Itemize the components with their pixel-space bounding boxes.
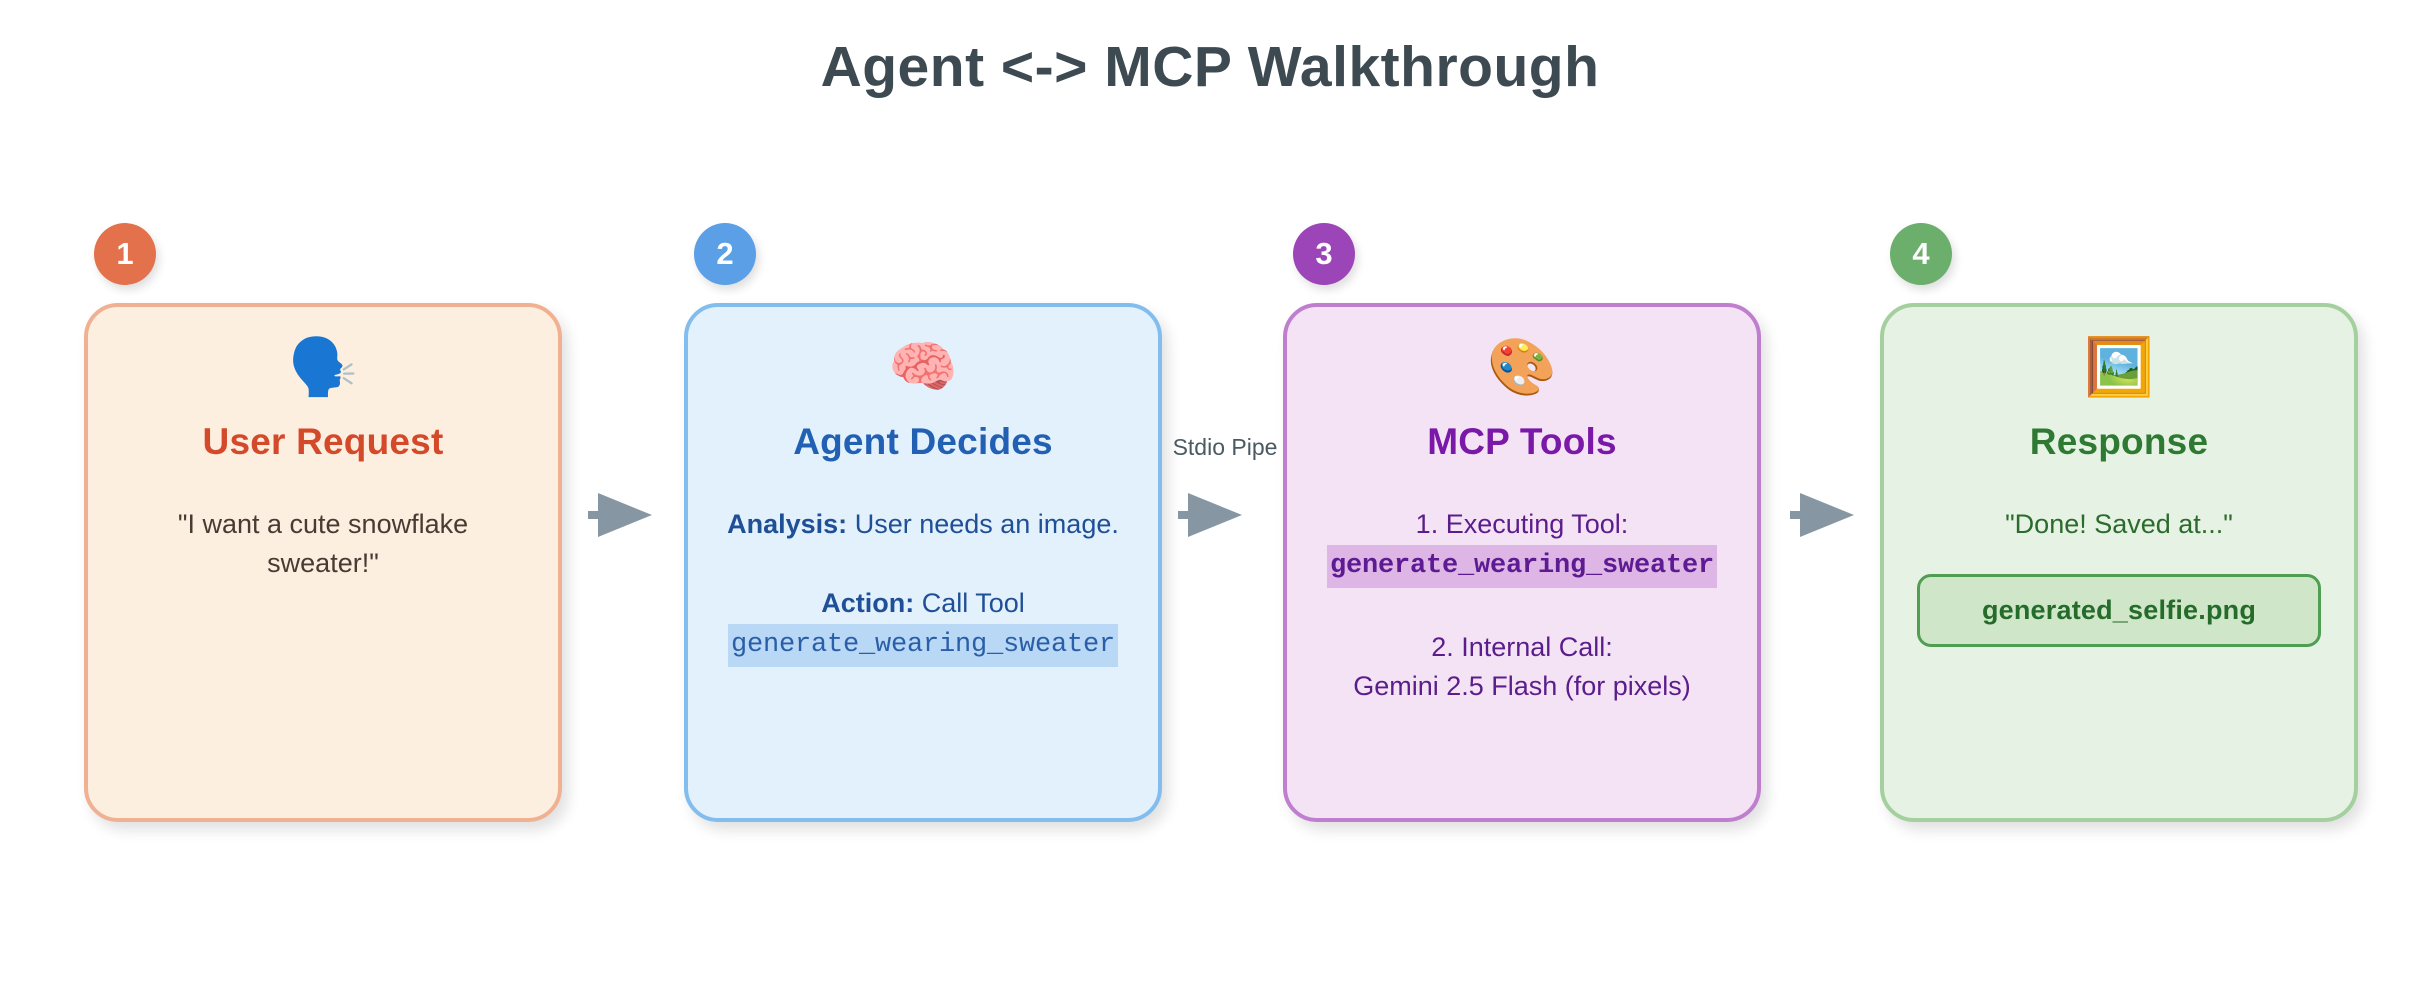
response-message: "Done! Saved at..." [1906, 505, 2332, 544]
flow-arrow-1-icon [588, 489, 652, 541]
mcp-step-1-label: 1. Executing Tool: [1309, 505, 1735, 544]
user-request-line-2: sweater!" [110, 544, 536, 583]
card-title-user-request: User Request [110, 421, 536, 463]
action-line: Action: Call Tool [710, 584, 1136, 623]
flow-arrow-2-icon [1178, 489, 1242, 541]
step-card-response: 🖼️ Response "Done! Saved at..." generate… [1880, 303, 2358, 822]
mcp-step-2-detail: Gemini 2.5 Flash (for pixels) [1309, 667, 1735, 706]
analysis-label: Analysis: [727, 509, 847, 539]
mcp-step-2-label: 2. Internal Call: [1309, 628, 1735, 667]
framed-picture-icon: 🖼️ [1906, 333, 2332, 407]
stdio-pipe-label: Stdio Pipe [1160, 434, 1290, 461]
card-title-agent-decides: Agent Decides [710, 421, 1136, 463]
card-body-user-request: "I want a cute snowflake sweater!" [110, 505, 536, 583]
flow-arrow-3-icon [1790, 489, 1854, 541]
speaking-head-icon: 🗣️ [110, 333, 536, 407]
analysis-text: User needs an image. [855, 509, 1119, 539]
card-title-mcp-tools: MCP Tools [1309, 421, 1735, 463]
step-card-user-request: 🗣️ User Request "I want a cute snowflake… [84, 303, 562, 822]
mcp-tool-code-line: generate_wearing_sweater [1309, 544, 1735, 588]
card-body-response: "Done! Saved at..." generated_selfie.png [1906, 505, 2332, 647]
agent-tool-code: generate_wearing_sweater [728, 624, 1118, 667]
card-body-mcp-tools: 1. Executing Tool: generate_wearing_swea… [1309, 505, 1735, 706]
step-badge-4: 4 [1890, 223, 1952, 285]
mcp-tool-code: generate_wearing_sweater [1327, 545, 1717, 588]
step-badge-2: 2 [694, 223, 756, 285]
action-text: Call Tool [922, 588, 1025, 618]
step-badge-3: 3 [1293, 223, 1355, 285]
artist-palette-icon: 🎨 [1309, 333, 1735, 407]
generated-file-pill[interactable]: generated_selfie.png [1917, 574, 2321, 647]
step-card-agent-decides: 🧠 Agent Decides Analysis: User needs an … [684, 303, 1162, 822]
action-label: Action: [821, 588, 914, 618]
brain-icon: 🧠 [710, 333, 1136, 407]
walkthrough-flow: 🗣️ User Request "I want a cute snowflake… [0, 0, 2420, 990]
step-badge-1: 1 [94, 223, 156, 285]
step-card-mcp-tools: 🎨 MCP Tools 1. Executing Tool: generate_… [1283, 303, 1761, 822]
agent-tool-code-line: generate_wearing_sweater [710, 623, 1136, 667]
analysis-line: Analysis: User needs an image. [710, 505, 1136, 544]
card-body-agent-decides: Analysis: User needs an image. Action: C… [710, 505, 1136, 667]
user-request-line-1: "I want a cute snowflake [110, 505, 536, 544]
card-title-response: Response [1906, 421, 2332, 463]
